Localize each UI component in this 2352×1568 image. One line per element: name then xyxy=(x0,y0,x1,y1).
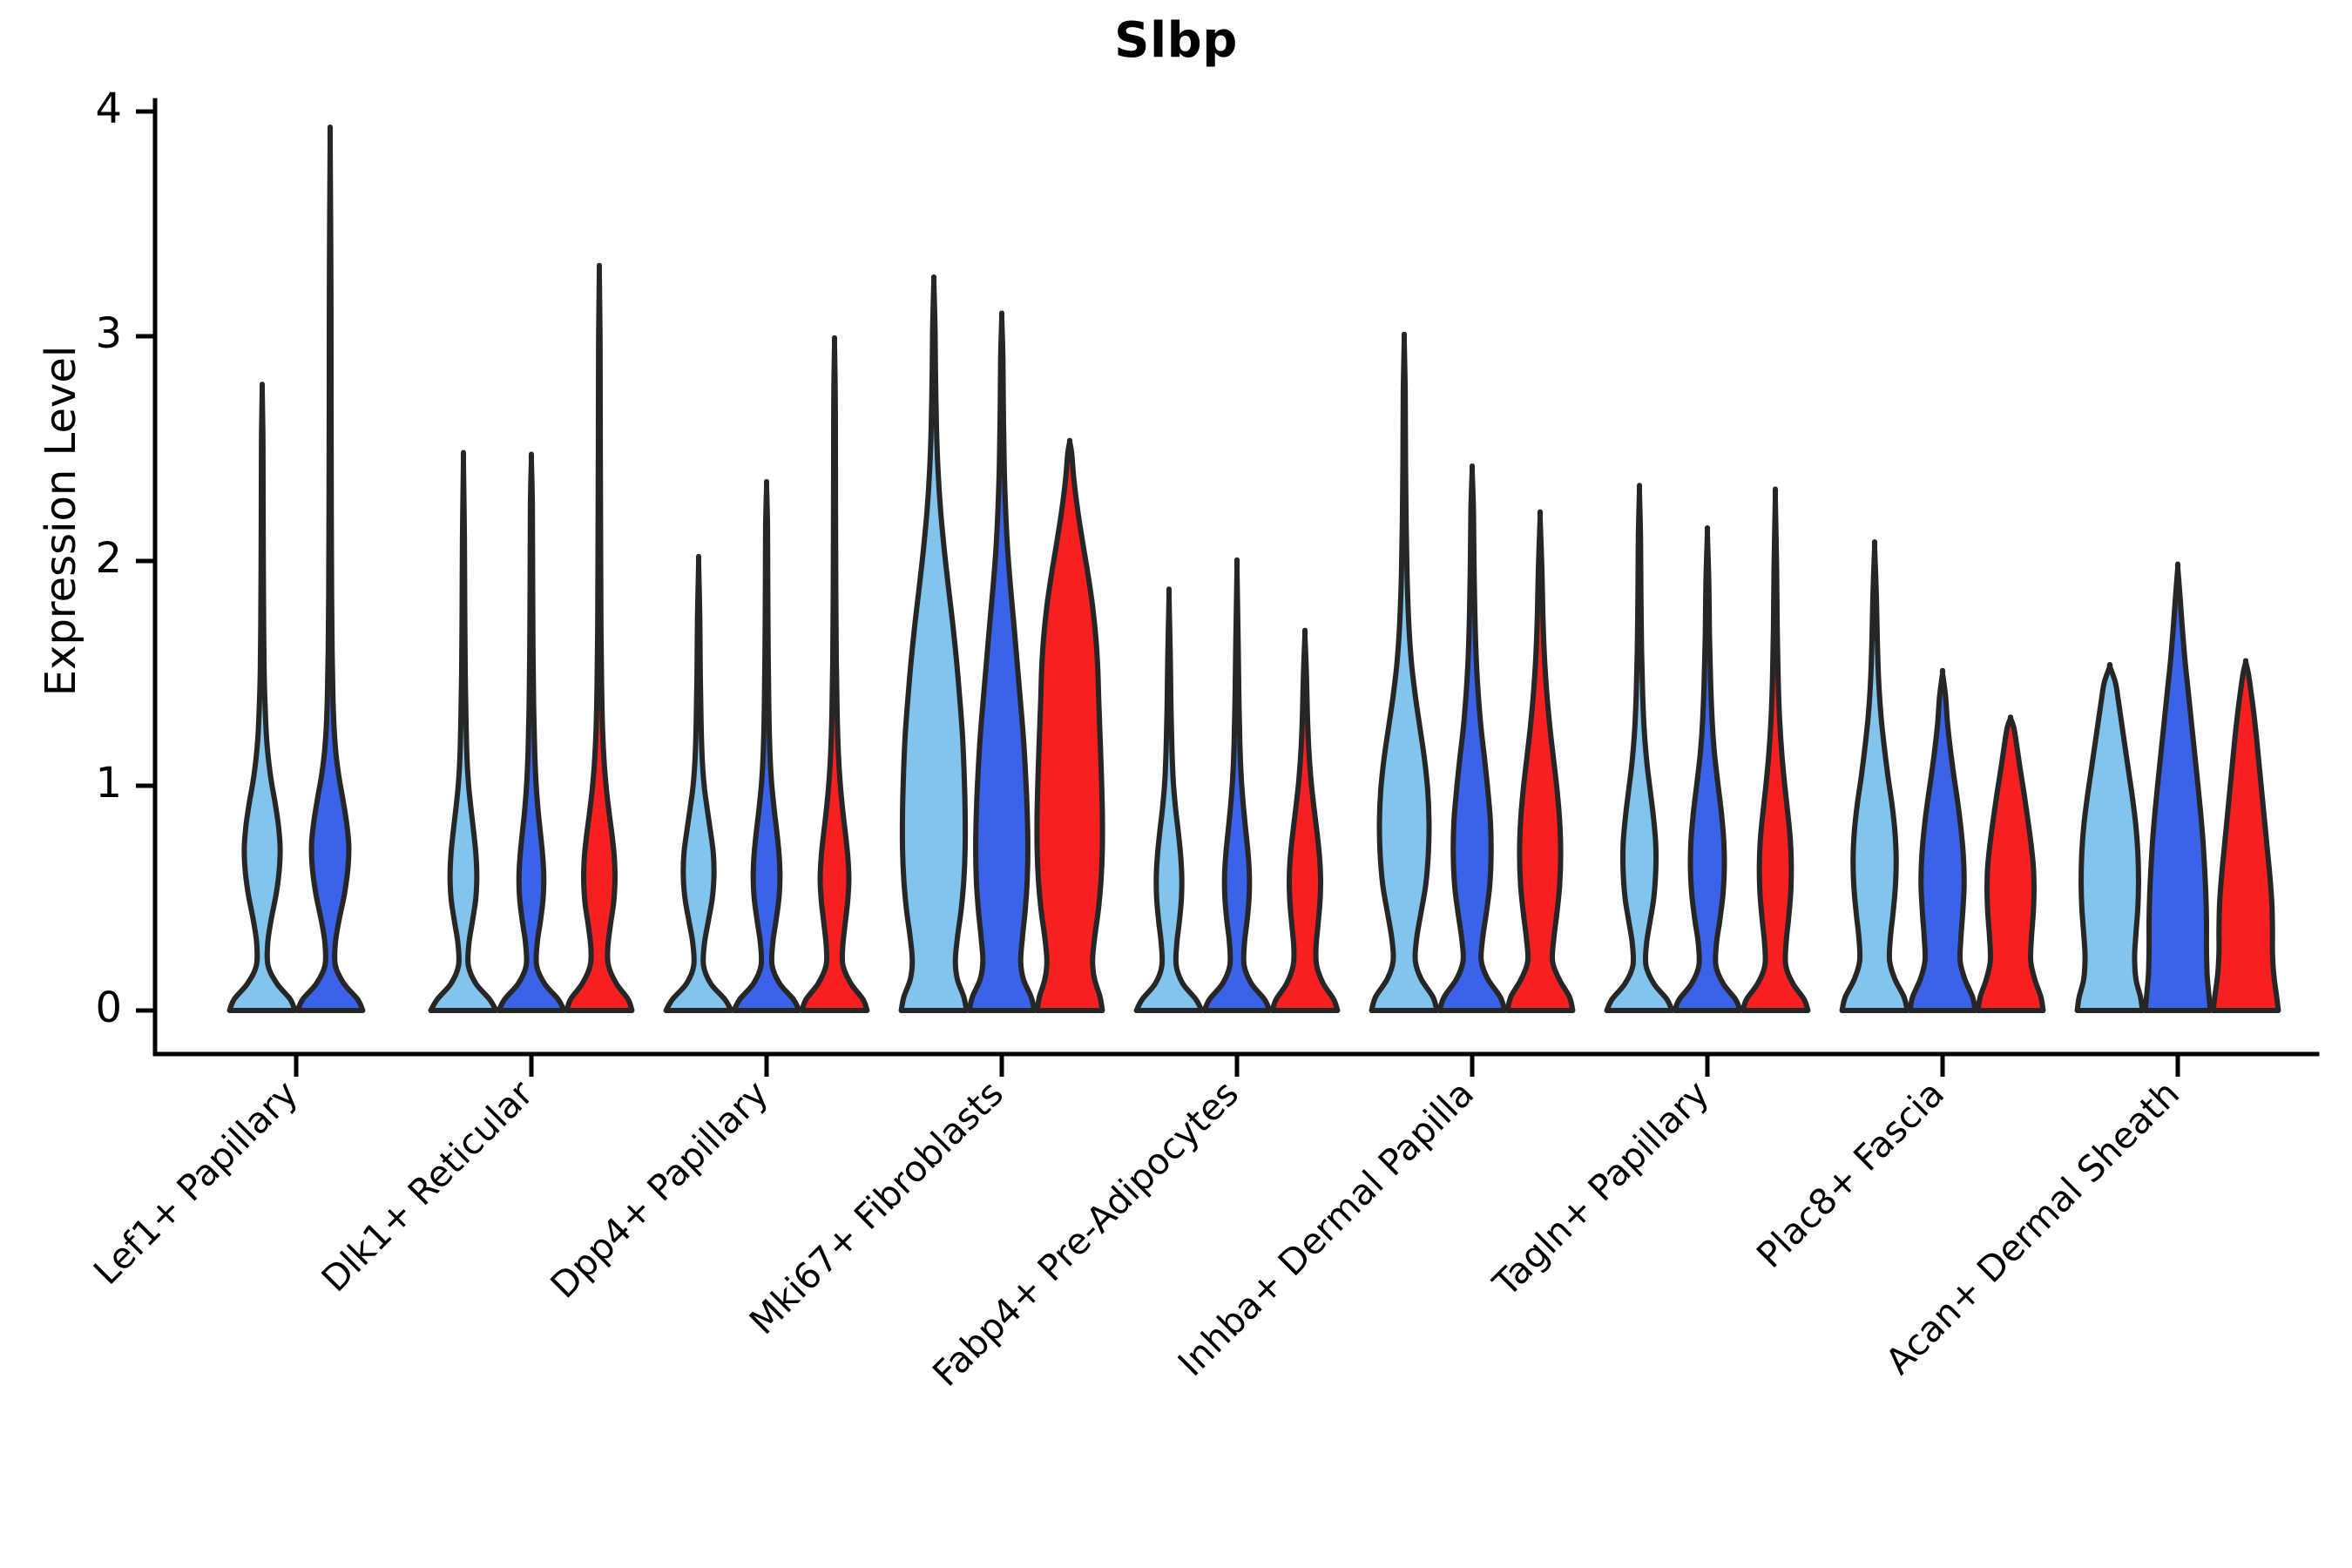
violin-shape[interactable] xyxy=(1273,631,1338,1010)
violin-plot-figure: Slbp Expression Level 01234 Lef1+ Papill… xyxy=(0,0,2352,1568)
violin-shape[interactable] xyxy=(1137,589,1202,1010)
y-tick-label: 0 xyxy=(95,983,122,1032)
chart-canvas: 01234 Lef1+ PapillaryDlk1+ ReticularDpp4… xyxy=(0,0,2352,1568)
violin-shape[interactable] xyxy=(666,557,732,1010)
violin-shape[interactable] xyxy=(1440,466,1505,1010)
violin-shape[interactable] xyxy=(1978,717,2044,1010)
y-tick-label: 2 xyxy=(95,534,122,583)
violin-shape[interactable] xyxy=(2146,564,2211,1010)
violin-shape[interactable] xyxy=(1508,512,1573,1010)
x-tick-label: Dlk1+ Reticular xyxy=(314,1072,541,1300)
violin-shape[interactable] xyxy=(298,127,363,1010)
violin-shape[interactable] xyxy=(970,314,1035,1010)
violins-layer xyxy=(230,127,2279,1010)
x-tick-label: Mki67+ Fibroblasts xyxy=(741,1072,1011,1342)
violin-shape[interactable] xyxy=(1842,542,1908,1010)
violin-shape[interactable] xyxy=(1607,485,1673,1010)
violin-shape[interactable] xyxy=(230,384,295,1010)
x-tick-label: Lef1+ Papillary xyxy=(85,1072,306,1293)
violin-shape[interactable] xyxy=(734,482,800,1010)
y-tick-label: 1 xyxy=(95,759,122,808)
violin-shape[interactable] xyxy=(1205,560,1270,1010)
y-tick-label: 4 xyxy=(95,84,122,133)
violin-shape[interactable] xyxy=(902,277,967,1010)
violin-shape[interactable] xyxy=(2078,665,2143,1010)
violin-shape[interactable] xyxy=(2213,660,2279,1010)
violin-shape[interactable] xyxy=(1743,489,1808,1010)
violin-shape[interactable] xyxy=(1910,671,1976,1010)
violin-shape[interactable] xyxy=(499,454,564,1010)
violin-shape[interactable] xyxy=(431,453,497,1010)
x-ticks-layer: Lef1+ PapillaryDlk1+ ReticularDpp4+ Papi… xyxy=(85,1054,2187,1395)
x-tick-label: Tagln+ Papillary xyxy=(1484,1072,1717,1305)
violin-shape[interactable] xyxy=(802,338,868,1010)
y-tick-label: 3 xyxy=(95,309,122,358)
violin-shape[interactable] xyxy=(1037,441,1102,1010)
violin-shape[interactable] xyxy=(567,266,632,1010)
y-ticks-layer: 01234 xyxy=(95,84,155,1032)
violin-shape[interactable] xyxy=(1372,335,1437,1010)
x-tick-label: Plac8+ Fascia xyxy=(1748,1072,1952,1276)
x-tick-label: Dpp4+ Papillary xyxy=(543,1072,776,1306)
violin-shape[interactable] xyxy=(1675,528,1740,1010)
